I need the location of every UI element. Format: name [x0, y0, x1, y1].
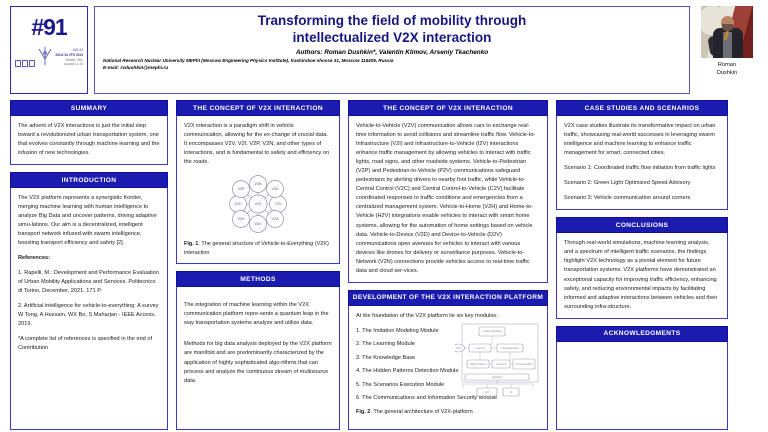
- section-case-studies: CASE STUDIES AND SCENARIOS V2X case stud…: [556, 100, 728, 210]
- development-intro: At the foundation of the V2X platform li…: [356, 312, 540, 321]
- figure-1-label: Fig. 1: [184, 241, 198, 247]
- section-acknowledgments-body: [556, 342, 728, 430]
- authors-line: Authors: Roman Dushkin*, Valentin Klimov…: [103, 49, 681, 56]
- figure-2-caption-text: . The general architecture of V2X-platfo…: [370, 409, 472, 415]
- svg-text:V2D: V2D: [272, 187, 279, 191]
- author-photo: [701, 6, 753, 58]
- section-conclusions-body: Through real-world simulations, machine …: [556, 233, 728, 318]
- section-concept-right: THE CONCEPT OF V2X INTERACTION Vehicle-t…: [348, 100, 548, 283]
- svg-text:V2N: V2N: [255, 182, 262, 186]
- section-concept-left: THE CONCEPT OF V2X INTERACTION V2X inter…: [176, 100, 340, 264]
- svg-text:V2H: V2H: [238, 217, 245, 221]
- section-methods: METHODS The integration of machine learn…: [176, 271, 340, 430]
- methods-paragraph-1: The integration of machine learning with…: [184, 301, 332, 328]
- svg-text:V2I: V2I: [275, 202, 280, 206]
- poster-number-logo-box: #91 AGI-24 BICA*AI VPS 2024 Seattle, WA,…: [10, 6, 88, 94]
- bica-logo-icon: [37, 45, 53, 67]
- section-summary: SUMMARY The advent of V2X interactions i…: [10, 100, 168, 165]
- svg-text:Learning: Learning: [476, 347, 486, 350]
- section-concept-left-body: V2X interaction is a paradigm shift in v…: [176, 116, 340, 264]
- section-concept-right-body: Vehicle-to-Vehicle (V2V) communication a…: [348, 116, 548, 283]
- section-summary-heading: SUMMARY: [10, 100, 168, 116]
- poster-title-line-2: intellectualized V2X interaction: [103, 30, 681, 47]
- svg-text:Hidden Patterns: Hidden Patterns: [470, 363, 487, 366]
- section-acknowledgments-heading: ACKNOWLEDGMENTS: [556, 326, 728, 342]
- section-methods-heading: METHODS: [176, 271, 340, 287]
- v2x-structure-diagram: V2X V2NV2V V2CV2I V2PV2D V2HV2G: [215, 173, 301, 235]
- figure-2-label: Fig. 2: [356, 409, 370, 415]
- svg-text:V2G: V2G: [271, 217, 278, 221]
- author-photo-lastname: Dushkin: [717, 69, 737, 77]
- section-acknowledgments: ACKNOWLEDGMENTS: [556, 326, 728, 430]
- poster-header: #91 AGI-24 BICA*AI VPS 2024 Seattle, WA,…: [10, 6, 758, 94]
- case-studies-text: V2X case studies illustrate its transfor…: [564, 122, 720, 158]
- section-conclusions: CONCLUSIONS Through real-world simulatio…: [556, 217, 728, 318]
- svg-text:Imitation Modeling: Imitation Modeling: [483, 330, 502, 333]
- conference-poster: #91 AGI-24 BICA*AI VPS 2024 Seattle, WA,…: [0, 0, 768, 432]
- figure-1-wrapper: V2X V2NV2V V2CV2I V2PV2D V2HV2G: [184, 173, 332, 235]
- concept-left-text: V2X interaction is a paradigm shift in v…: [184, 122, 332, 167]
- section-methods-body: The integration of machine learning with…: [176, 287, 340, 430]
- poster-title: Transforming the field of mobility throu…: [103, 13, 681, 47]
- svg-text:V2C: V2C: [235, 202, 242, 206]
- summary-text: The advent of V2X interactions is just t…: [18, 122, 160, 158]
- section-introduction-body: The V2X platform represents a synergisti…: [10, 188, 168, 430]
- conference-info: AGI-24 BICA*AI VPS 2024 Seattle, WA, Aug…: [55, 48, 83, 67]
- section-summary-body: The advent of V2X interactions is just t…: [10, 116, 168, 165]
- scenario-2: Scenario 2: Green Light Optimized Speed …: [564, 179, 720, 188]
- section-conclusions-heading: CONCLUSIONS: [556, 217, 728, 233]
- poster-number: #91: [31, 15, 66, 39]
- author-photo-firstname: Roman: [717, 61, 737, 69]
- email-line: E-mail: rvdushkin@mephi.ru: [103, 66, 681, 71]
- svg-text:V2V: V2V: [255, 222, 262, 226]
- figure-1-caption-text: . The general structure of Vehicle-to-Ev…: [184, 241, 329, 256]
- introduction-text: The V2X platform represents a synergisti…: [18, 194, 160, 248]
- svg-text:Communications: Communications: [515, 363, 533, 366]
- figure-2-caption: Fig. 2. The general architecture of V2X-…: [356, 408, 540, 417]
- reference-2: 2. Artificial intelligence for vehicle-t…: [18, 302, 160, 329]
- author-photo-block: Roman Dushkin: [696, 6, 758, 94]
- svg-text:Input: Input: [456, 347, 461, 350]
- column-4: CASE STUDIES AND SCENARIOS V2X case stud…: [556, 100, 728, 430]
- reference-note: *A complete list of references is specif…: [18, 335, 160, 353]
- svg-text:Scenarios: Scenarios: [496, 363, 507, 366]
- v2x-platform-architecture-diagram: Imitation Modeling Learning Knowledge Ba…: [455, 322, 541, 402]
- conference-logo-row: AGI-24 BICA*AI VPS 2024 Seattle, WA, Aug…: [13, 45, 85, 67]
- figure-1-caption: Fig. 1. The general structure of Vehicle…: [184, 240, 332, 257]
- svg-text:Knowledge Base: Knowledge Base: [501, 348, 519, 350]
- svg-text:V2X: V2X: [485, 392, 490, 394]
- poster-title-line-1: Transforming the field of mobility throu…: [103, 13, 681, 30]
- section-introduction-heading: INTRODUCTION: [10, 172, 168, 188]
- conference-emblem-icon: [15, 60, 35, 67]
- section-case-studies-heading: CASE STUDIES AND SCENARIOS: [556, 100, 728, 116]
- concept-right-text: Vehicle-to-Vehicle (V2V) communication a…: [356, 122, 540, 276]
- methods-paragraph-2: Methods for big data analysis deployed b…: [184, 340, 332, 385]
- section-introduction: INTRODUCTION The V2X platform represents…: [10, 172, 168, 430]
- reference-1: 1. Rapelli, M.: Development and Performa…: [18, 269, 160, 296]
- section-development-heading: DEVELOPMENT OF THE V2X INTERACTION PLATF…: [348, 290, 548, 306]
- title-block: Transforming the field of mobility throu…: [94, 6, 690, 94]
- column-3: THE CONCEPT OF V2X INTERACTION Vehicle-t…: [348, 100, 548, 430]
- scenario-1: Scenario 1: Coordinated traffic flow ini…: [564, 164, 720, 173]
- scenario-3: Scenario 3: Vehicle communication around…: [564, 194, 720, 203]
- section-development-body: At the foundation of the V2X platform li…: [348, 306, 548, 430]
- svg-text:UI: UI: [510, 392, 513, 394]
- column-2: THE CONCEPT OF V2X INTERACTION V2X inter…: [176, 100, 340, 430]
- conference-location-date: Seattle, WA, August 13-16: [55, 58, 83, 68]
- svg-text:Data Bus: Data Bus: [492, 376, 502, 379]
- svg-text:V2X: V2X: [255, 202, 262, 206]
- affiliation-line: National Research Nuclear University MEP…: [103, 58, 681, 65]
- poster-columns: SUMMARY The advent of V2X interactions i…: [10, 100, 758, 430]
- conference-series: BICA*AI VPS 2024: [55, 53, 83, 58]
- figure-2-wrapper: Imitation Modeling Learning Knowledge Ba…: [455, 322, 541, 406]
- section-concept-left-heading: THE CONCEPT OF V2X INTERACTION: [176, 100, 340, 116]
- conclusions-text: Through real-world simulations, machine …: [564, 239, 720, 311]
- column-1: SUMMARY The advent of V2X interactions i…: [10, 100, 168, 430]
- author-photo-caption: Roman Dushkin: [717, 61, 737, 78]
- svg-text:V2P: V2P: [238, 187, 245, 191]
- references-title: References:: [18, 254, 160, 263]
- section-case-studies-body: V2X case studies illustrate its transfor…: [556, 116, 728, 210]
- section-development: DEVELOPMENT OF THE V2X INTERACTION PLATF…: [348, 290, 548, 430]
- section-concept-right-heading: THE CONCEPT OF V2X INTERACTION: [348, 100, 548, 116]
